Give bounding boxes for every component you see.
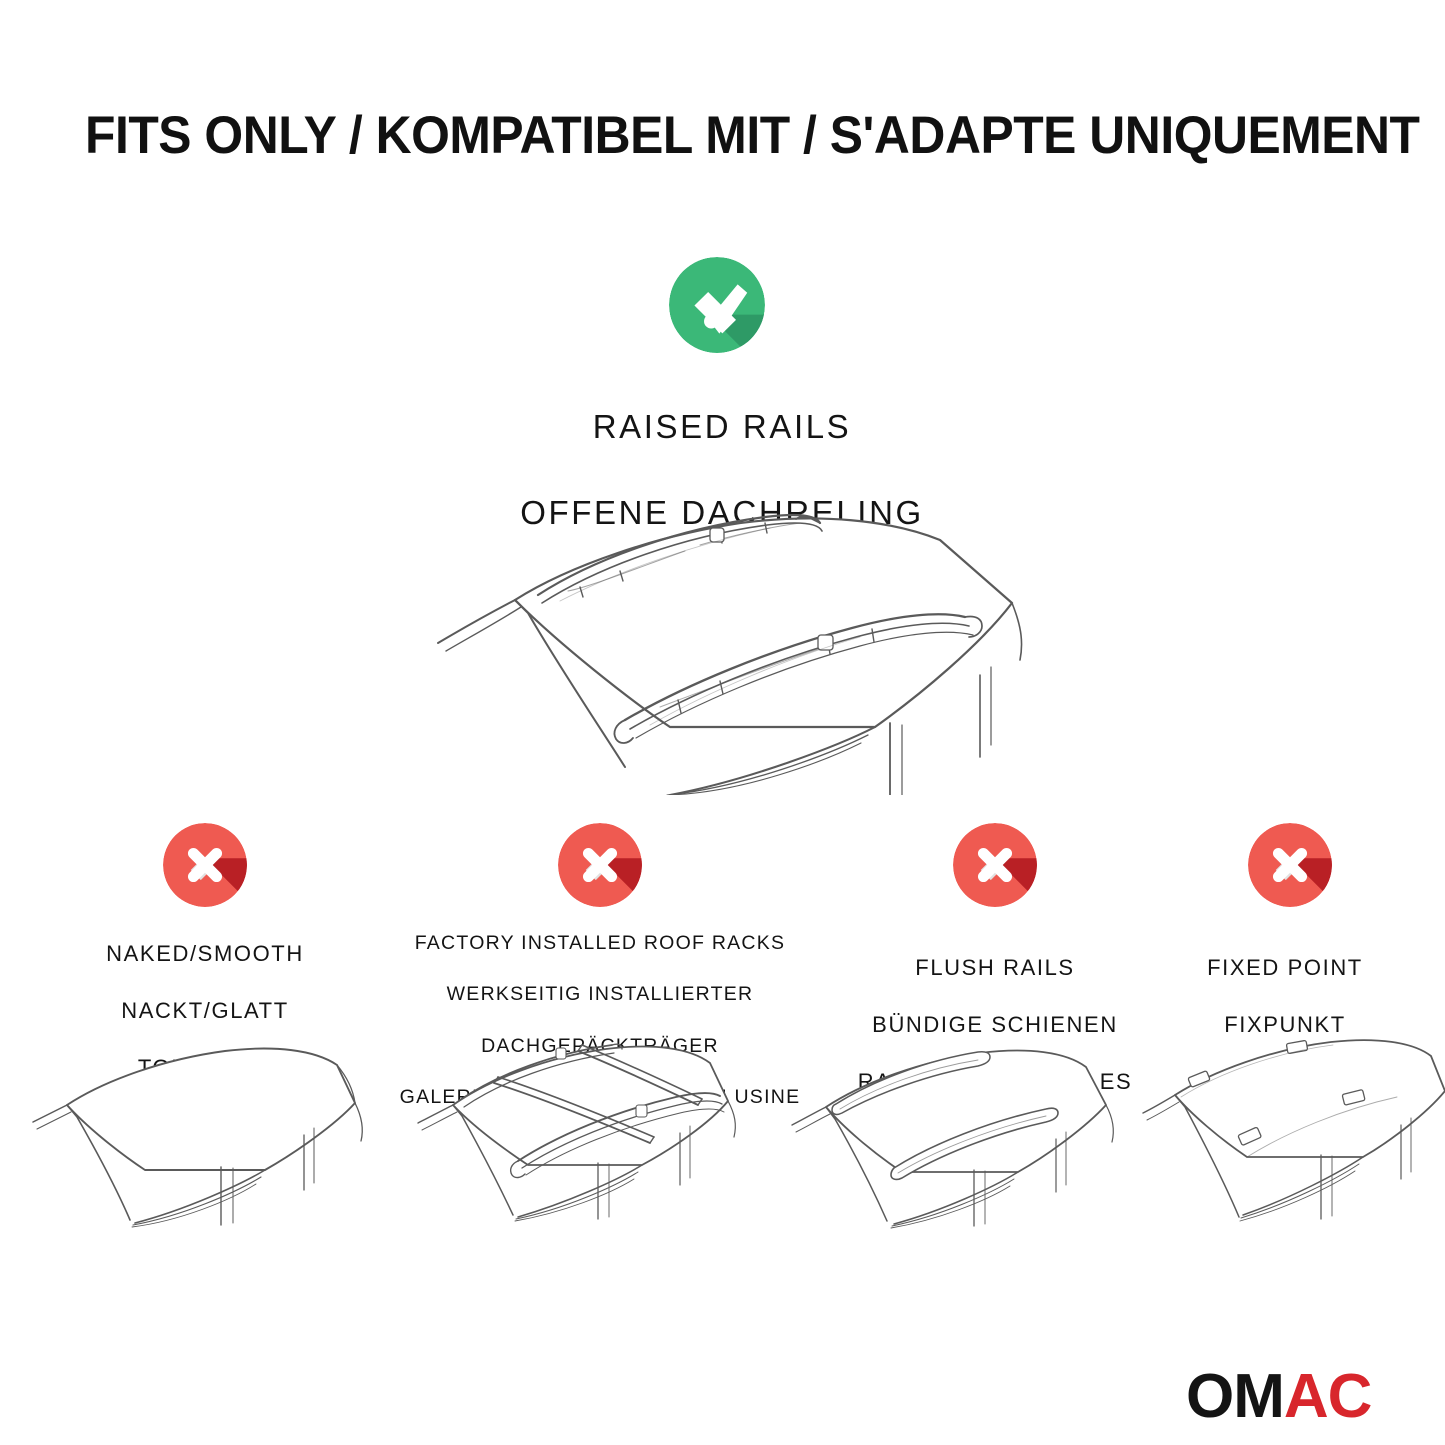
- brand-logo-ac: AC: [1284, 1362, 1372, 1431]
- brand-logo: OMAC: [1186, 1366, 1371, 1428]
- caption-line: FLUSH RAILS: [820, 954, 1170, 983]
- compatible-caption-line: RAISED RAILS: [422, 406, 1022, 449]
- caption-line: FIXED POINT: [1120, 954, 1445, 983]
- car-roof-naked-sketch: [25, 1025, 385, 1245]
- caption-line: WERKSEITIG INSTALLIERTER: [370, 982, 830, 1008]
- cross-circle-icon: [558, 823, 642, 907]
- caption-line: NACKT/GLATT: [30, 997, 380, 1026]
- caption-line: FACTORY INSTALLED ROOF RACKS: [370, 931, 830, 957]
- page-title: FITS ONLY / KOMPATIBEL MIT / S'ADAPTE UN…: [85, 108, 1298, 164]
- car-roof-raised-rails-sketch: [420, 495, 1030, 795]
- check-circle-icon: [669, 257, 765, 353]
- car-roof-fixed-point-sketch: [1135, 1025, 1445, 1245]
- cross-circle-icon: [953, 823, 1037, 907]
- caption-line: NAKED/SMOOTH: [30, 940, 380, 969]
- infographic-canvas: FITS ONLY / KOMPATIBEL MIT / S'ADAPTE UN…: [0, 0, 1445, 1445]
- cross-circle-icon: [1248, 823, 1332, 907]
- cross-circle-icon: [163, 823, 247, 907]
- car-roof-flush-rails-sketch: [778, 1025, 1138, 1245]
- car-roof-factory-rack-sketch: [398, 1015, 758, 1240]
- brand-logo-om: OM: [1186, 1362, 1284, 1431]
